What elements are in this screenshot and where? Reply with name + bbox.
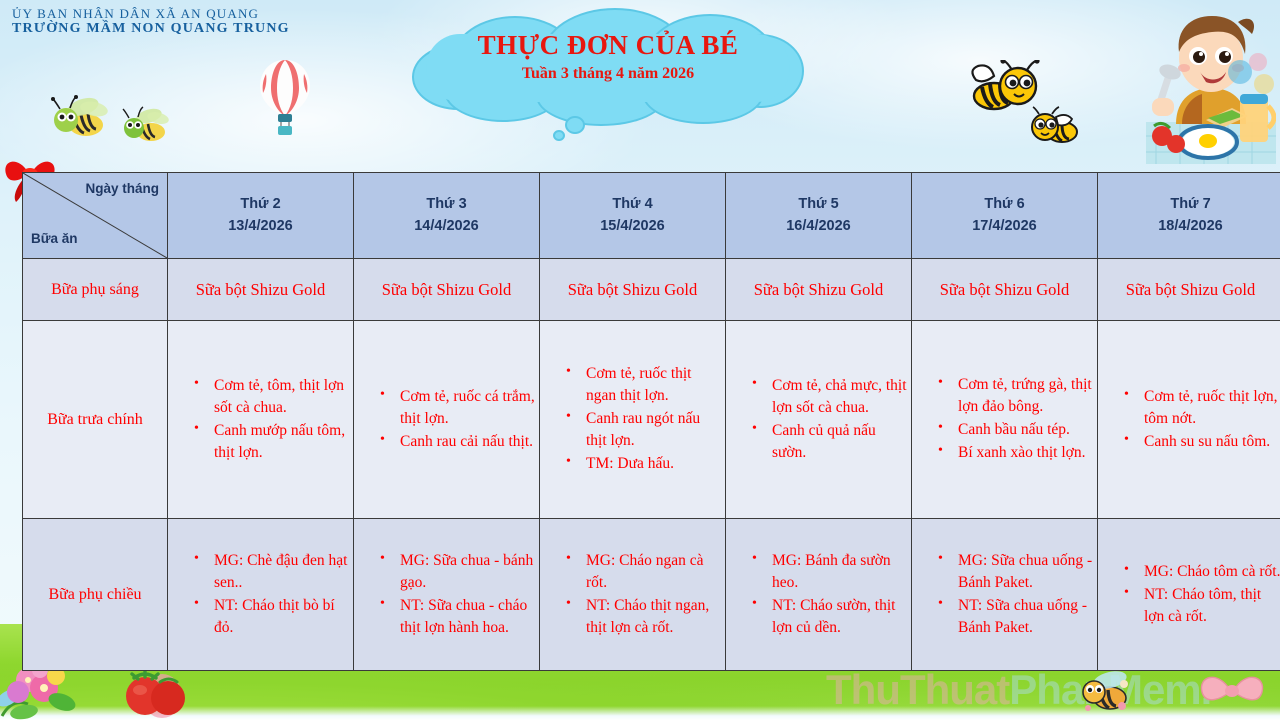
menu-item: Cơm tẻ, ruốc thịt ngan thịt lợn. xyxy=(566,363,723,407)
menu-item: NT: Sữa chua uống - Bánh Paket. xyxy=(938,595,1095,639)
menu-item: NT: Cháo thịt bò bí đỏ. xyxy=(194,595,351,639)
menu-item: MG: Cháo ngan cà rốt. xyxy=(566,550,723,594)
menu-item: MG: Sữa chua - bánh gạo. xyxy=(380,550,537,594)
cell-lunch-tue: Cơm tẻ, ruốc cá trắm, thịt lợn.Canh rau … xyxy=(354,321,540,519)
cell-breakfast-tue: Sữa bột Shizu Gold xyxy=(354,259,540,321)
cell-breakfast-thu: Sữa bột Shizu Gold xyxy=(726,259,912,321)
menu-item: TM: Dưa hấu. xyxy=(566,453,723,475)
column-header-wed: Thứ 4 15/4/2026 xyxy=(540,173,726,259)
menu-item: Cơm tẻ, trứng gà, thịt lợn đảo bông. xyxy=(938,374,1095,418)
table-row: Bữa phụ chiều MG: Chè đậu đen hạt sen..N… xyxy=(23,519,1280,671)
cell-lunch-wed: Cơm tẻ, ruốc thịt ngan thịt lợn.Canh rau… xyxy=(540,321,726,519)
column-header-tue: Thứ 3 14/4/2026 xyxy=(354,173,540,259)
cell-lunch-mon: Cơm tẻ, tôm, thịt lợn sốt cà chua.Canh m… xyxy=(168,321,354,519)
column-header-sat: Thứ 7 18/4/2026 xyxy=(1098,173,1280,259)
cell-snack-thu: MG: Bánh đa sườn heo.NT: Cháo sườn, thịt… xyxy=(726,519,912,671)
cell-breakfast-mon: Sữa bột Shizu Gold xyxy=(168,259,354,321)
column-day: Thứ 4 xyxy=(540,194,725,216)
table-header-row: Ngày tháng Bữa ăn Thứ 2 13/4/2026 Thứ 3 … xyxy=(23,173,1280,259)
column-date: 14/4/2026 xyxy=(354,216,539,238)
menu-item: Cơm tẻ, tôm, thịt lợn sốt cà chua. xyxy=(194,375,351,419)
column-day: Thứ 6 xyxy=(912,194,1097,216)
column-date: 17/4/2026 xyxy=(912,216,1097,238)
column-day: Thứ 7 xyxy=(1098,194,1280,216)
menu-item: Canh rau cải nấu thịt. xyxy=(380,431,537,453)
menu-item: MG: Chè đậu đen hạt sen.. xyxy=(194,550,351,594)
menu-item: MG: Bánh đa sườn heo. xyxy=(752,550,909,594)
column-day: Thứ 2 xyxy=(168,194,353,216)
cell-snack-mon: MG: Chè đậu đen hạt sen..NT: Cháo thịt b… xyxy=(168,519,354,671)
cell-snack-fri: MG: Sữa chua uống - Bánh Paket.NT: Sữa c… xyxy=(912,519,1098,671)
menu-item: MG: Cháo tôm cà rốt. xyxy=(1124,561,1280,583)
table-row: Bữa phụ sáng Sữa bột Shizu Gold Sữa bột … xyxy=(23,259,1280,321)
menu-item: Canh bầu nấu tép. xyxy=(938,419,1095,441)
menu-item: Canh củ quả nấu sườn. xyxy=(752,420,909,464)
column-day: Thứ 3 xyxy=(354,194,539,216)
column-date: 15/4/2026 xyxy=(540,216,725,238)
school-header: ỦY BAN NHÂN DÂN XÃ AN QUANG TRƯỜNG MẦM N… xyxy=(12,6,290,38)
corner-label-meal: Bữa ăn xyxy=(31,231,78,246)
cell-snack-sat: MG: Cháo tôm cà rốt.NT: Cháo tôm, thịt l… xyxy=(1098,519,1280,671)
menu-item: NT: Cháo thịt ngan, thịt lợn cà rốt. xyxy=(566,595,723,639)
menu-item: Cơm tẻ, ruốc thịt lợn, tôm nớt. xyxy=(1124,386,1280,430)
row-label-lunch: Bữa trưa chính xyxy=(23,321,168,519)
column-date: 16/4/2026 xyxy=(726,216,911,238)
menu-item: Cơm tẻ, chả mực, thịt lợn sốt cà chua. xyxy=(752,375,909,419)
corner-label-date: Ngày tháng xyxy=(85,181,159,196)
title-block: THỰC ĐƠN CỦA BÉ Tuần 3 tháng 4 năm 2026 xyxy=(408,30,808,83)
org-line-1: ỦY BAN NHÂN DÂN XÃ AN QUANG xyxy=(12,6,290,21)
cell-breakfast-wed: Sữa bột Shizu Gold xyxy=(540,259,726,321)
menu-item: Bí xanh xào thịt lợn. xyxy=(938,442,1095,464)
menu-subtitle: Tuần 3 tháng 4 năm 2026 xyxy=(408,65,808,83)
column-header-fri: Thứ 6 17/4/2026 xyxy=(912,173,1098,259)
cell-breakfast-sat: Sữa bột Shizu Gold xyxy=(1098,259,1280,321)
menu-item: Cơm tẻ, ruốc cá trắm, thịt lợn. xyxy=(380,386,537,430)
cell-lunch-fri: Cơm tẻ, trứng gà, thịt lợn đảo bông.Canh… xyxy=(912,321,1098,519)
cell-lunch-sat: Cơm tẻ, ruốc thịt lợn, tôm nớt.Canh su s… xyxy=(1098,321,1280,519)
org-line-2: TRƯỜNG MẦM NON QUANG TRUNG xyxy=(12,21,290,38)
menu-item: NT: Cháo sườn, thịt lợn củ dền. xyxy=(752,595,909,639)
cell-lunch-thu: Cơm tẻ, chả mực, thịt lợn sốt cà chua.Ca… xyxy=(726,321,912,519)
background-bottom-strip xyxy=(0,706,1280,720)
menu-item: Canh rau ngót nấu thịt lợn. xyxy=(566,408,723,452)
column-date: 13/4/2026 xyxy=(168,216,353,238)
row-label-breakfast: Bữa phụ sáng xyxy=(23,259,168,321)
menu-item: Canh mướp nấu tôm, thịt lợn. xyxy=(194,420,351,464)
cell-snack-tue: MG: Sữa chua - bánh gạo.NT: Sữa chua - c… xyxy=(354,519,540,671)
cell-breakfast-fri: Sữa bột Shizu Gold xyxy=(912,259,1098,321)
menu-item: Canh su su nấu tôm. xyxy=(1124,431,1280,453)
header-corner-cell: Ngày tháng Bữa ăn xyxy=(23,173,168,259)
column-header-mon: Thứ 2 13/4/2026 xyxy=(168,173,354,259)
cell-snack-wed: MG: Cháo ngan cà rốt.NT: Cháo thịt ngan,… xyxy=(540,519,726,671)
column-header-thu: Thứ 5 16/4/2026 xyxy=(726,173,912,259)
row-label-afternoon-snack: Bữa phụ chiều xyxy=(23,519,168,671)
column-date: 18/4/2026 xyxy=(1098,216,1280,238)
menu-table: Ngày tháng Bữa ăn Thứ 2 13/4/2026 Thứ 3 … xyxy=(22,172,1280,671)
title-cloud: THỰC ĐƠN CỦA BÉ Tuần 3 tháng 4 năm 2026 xyxy=(408,8,808,128)
menu-title: THỰC ĐƠN CỦA BÉ xyxy=(408,30,808,61)
table-row: Bữa trưa chính Cơm tẻ, tôm, thịt lợn sốt… xyxy=(23,321,1280,519)
column-day: Thứ 5 xyxy=(726,194,911,216)
menu-item: MG: Sữa chua uống - Bánh Paket. xyxy=(938,550,1095,594)
menu-item: NT: Sữa chua - cháo thịt lợn hành hoa. xyxy=(380,595,537,639)
menu-item: NT: Cháo tôm, thịt lợn cà rốt. xyxy=(1124,584,1280,628)
